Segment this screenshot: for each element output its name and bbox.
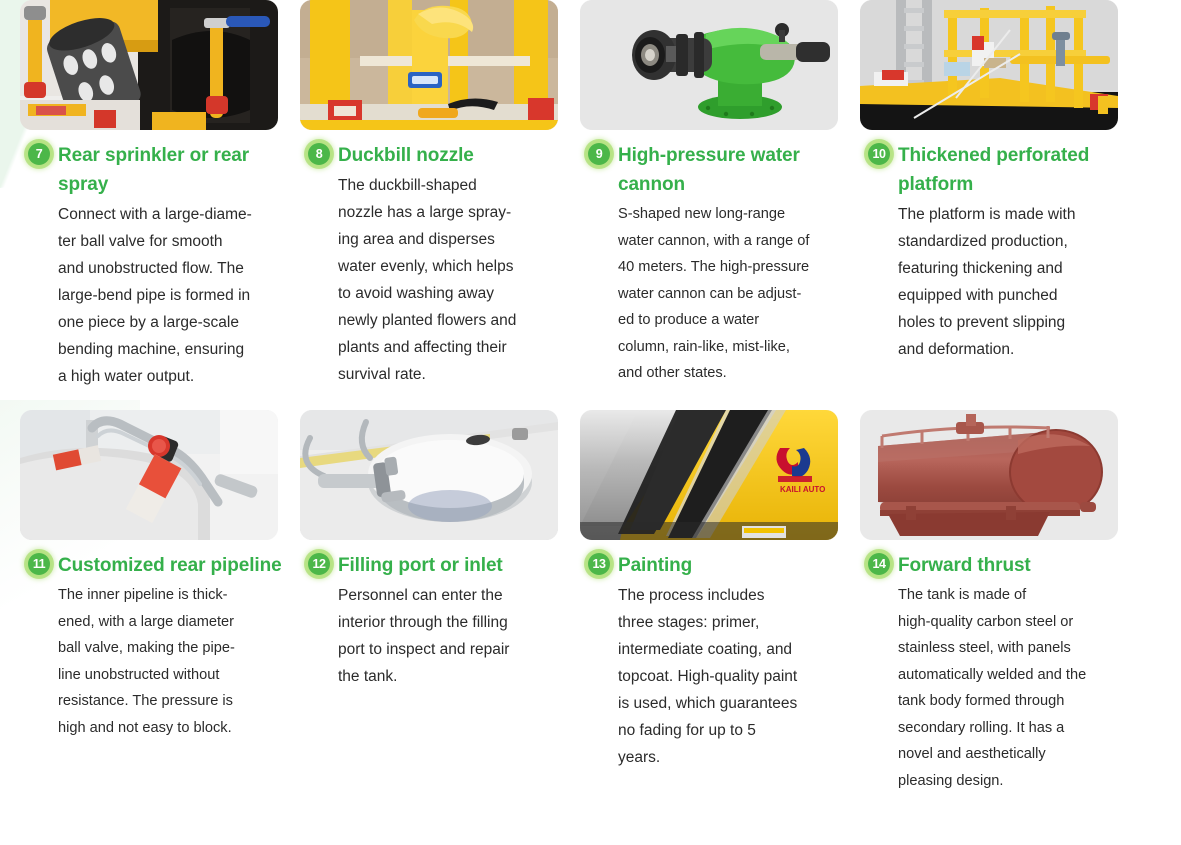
- duckbill-nozzle-photo: [300, 0, 558, 130]
- step-number-badge: 12: [308, 553, 330, 575]
- feature-grid-row-2: 11 Customized rear pipeline The inner pi…: [0, 398, 1181, 794]
- badge-wrap: 11: [20, 551, 58, 575]
- badge-wrap: 7: [20, 141, 58, 165]
- logo-text: KAILI AUTO: [780, 485, 825, 494]
- feature-card-10: 10 Thickened perforated platform The pla…: [860, 0, 1135, 390]
- feature-title: Rear sprinkler or rear spray: [58, 141, 295, 199]
- badge-wrap: 10: [860, 141, 898, 165]
- step-number-badge: 11: [28, 553, 50, 575]
- step-number-badge: 13: [588, 553, 610, 575]
- feature-title: High-pressure water cannon: [618, 141, 855, 199]
- feature-title: Customized rear pipeline: [58, 551, 295, 580]
- feature-description: Connect with a large-diame- ter ball val…: [20, 201, 295, 390]
- feature-card-10-header: 10 Thickened perforated platform: [860, 141, 1135, 199]
- feature-description: The duckbill-shaped nozzle has a large s…: [300, 172, 575, 388]
- feature-title: Duckbill nozzle: [338, 141, 575, 170]
- feature-card-14: 14 Forward thrust The tank is made of hi…: [860, 410, 1135, 794]
- badge-wrap: 13: [580, 551, 618, 575]
- rear-sprinkler-photo: [20, 0, 278, 130]
- feature-card-11-header: 11 Customized rear pipeline: [20, 551, 295, 580]
- feature-card-13-header: 13 Painting: [580, 551, 855, 580]
- painting-photo: KAILI AUTO: [580, 410, 838, 540]
- step-number-badge: 14: [868, 553, 890, 575]
- feature-description: The process includes three stages: prime…: [580, 582, 855, 771]
- feature-card-9: 9 High-pressure water cannon S-shaped ne…: [580, 0, 855, 390]
- feature-card-11: 11 Customized rear pipeline The inner pi…: [20, 410, 295, 794]
- feature-grid-row-1: 7 Rear sprinkler or rear spray Connect w…: [0, 0, 1181, 390]
- badge-wrap: 12: [300, 551, 338, 575]
- badge-wrap: 9: [580, 141, 618, 165]
- feature-description: The tank is made of high-quality carbon …: [860, 582, 1135, 794]
- feature-description: The platform is made with standardized p…: [860, 201, 1135, 363]
- feature-title: Painting: [618, 551, 855, 580]
- feature-card-12-header: 12 Filling port or inlet: [300, 551, 575, 580]
- water-cannon-photo: [580, 0, 838, 130]
- feature-card-14-header: 14 Forward thrust: [860, 551, 1135, 580]
- feature-description: The inner pipeline is thick- ened, with …: [20, 582, 295, 741]
- feature-card-7: 7 Rear sprinkler or rear spray Connect w…: [20, 0, 295, 390]
- perforated-platform-photo: [860, 0, 1118, 130]
- feature-description: Personnel can enter the interior through…: [300, 582, 575, 690]
- feature-description: S-shaped new long-range water cannon, wi…: [580, 201, 855, 387]
- badge-wrap: 8: [300, 141, 338, 165]
- step-number-badge: 10: [868, 143, 890, 165]
- badge-wrap: 14: [860, 551, 898, 575]
- feature-card-8-header: 8 Duckbill nozzle: [300, 141, 575, 170]
- feature-title: Filling port or inlet: [338, 551, 575, 580]
- step-number-badge: 7: [28, 143, 50, 165]
- feature-card-8: 8 Duckbill nozzle The duckbill-shaped no…: [300, 0, 575, 390]
- filling-port-photo: [300, 410, 558, 540]
- step-number-badge: 8: [308, 143, 330, 165]
- step-number-badge: 9: [588, 143, 610, 165]
- rear-pipeline-photo: [20, 410, 278, 540]
- feature-card-13: KAILI AUTO 13 Painting The process inclu…: [580, 410, 855, 794]
- tank-body-photo: [860, 410, 1118, 540]
- feature-title: Forward thrust: [898, 551, 1135, 580]
- feature-card-7-header: 7 Rear sprinkler or rear spray: [20, 141, 295, 199]
- feature-card-12: 12 Filling port or inlet Personnel can e…: [300, 410, 575, 794]
- feature-card-9-header: 9 High-pressure water cannon: [580, 141, 855, 199]
- feature-title: Thickened perforated platform: [898, 141, 1135, 199]
